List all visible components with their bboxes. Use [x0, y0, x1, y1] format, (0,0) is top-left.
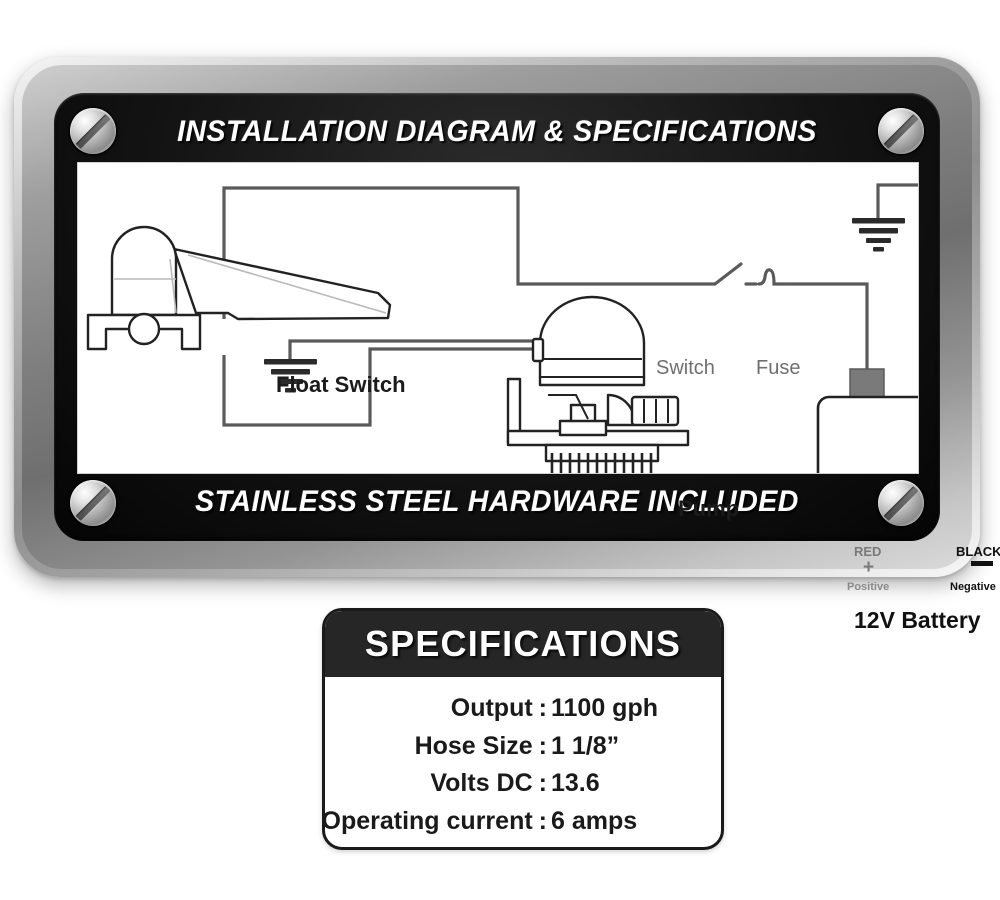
screw-top-left-icon — [70, 108, 116, 154]
float-switch-drawing — [88, 227, 390, 349]
specifications-card: SPECIFICATIONS Output : 1100 gph Hose Si… — [322, 608, 724, 850]
battery-body — [818, 397, 918, 473]
spec-separator: : — [539, 766, 547, 801]
fuse-label: Fuse — [756, 357, 800, 380]
battery-positive-terminal — [850, 369, 884, 399]
spec-value-hose-size: 1 1/8” — [551, 729, 699, 764]
metal-bezel-frame: INSTALLATION DIAGRAM & SPECIFICATIONS ST… — [14, 57, 980, 577]
black-plate: INSTALLATION DIAGRAM & SPECIFICATIONS ST… — [54, 93, 940, 541]
wiring-diagram-svg — [78, 163, 918, 473]
installation-diagram-page: INSTALLATION DIAGRAM & SPECIFICATIONS ST… — [0, 0, 1000, 900]
wire-battery-negative-to-ground — [878, 185, 918, 375]
pump-impeller-base — [560, 421, 606, 435]
battery-positive-word-label: Positive — [847, 581, 889, 593]
battery-minus-sign-icon — [971, 561, 993, 566]
specifications-list: Output : 1100 gph Hose Size : 1 1/8” Vol… — [325, 677, 721, 848]
float-switch-label: Float Switch — [276, 372, 406, 398]
wire-pump-to-ground — [290, 341, 538, 361]
float-switch-body — [112, 227, 176, 315]
spec-label-operating-current: Operating current — [322, 804, 533, 839]
spec-separator: : — [539, 729, 547, 764]
spec-label-hose-size: Hose Size — [415, 729, 533, 764]
battery-plus-sign-icon: + — [863, 557, 874, 579]
spec-row-volts-dc: Volts DC : 13.6 — [339, 766, 699, 801]
panel-footer-title: STAINLESS STEEL HARDWARE INCLUDED — [143, 472, 852, 532]
pump-cable-gland — [533, 339, 543, 361]
pump-housing — [540, 297, 644, 385]
screw-bottom-left-icon — [70, 480, 116, 526]
battery-title-label: 12V Battery — [854, 607, 981, 634]
ground-symbol-battery — [852, 218, 905, 252]
specifications-header: SPECIFICATIONS — [325, 611, 721, 677]
battery-negative-color-label: BLACK — [956, 544, 1000, 559]
pump-label: Pump — [678, 496, 739, 522]
switch-label: Switch — [656, 357, 715, 380]
spec-value-operating-current: 6 amps — [551, 804, 699, 839]
battery-negative-word-label: Negative — [950, 581, 996, 593]
spec-label-output: Output — [451, 691, 533, 726]
fuse-symbol — [759, 270, 785, 284]
screw-bottom-right-icon — [878, 480, 924, 526]
spec-separator: : — [539, 804, 547, 839]
spec-row-operating-current: Operating current : 6 amps — [339, 804, 699, 839]
spec-row-hose-size: Hose Size : 1 1/8” — [339, 729, 699, 764]
specifications-title: SPECIFICATIONS — [365, 623, 681, 665]
pump-outlet-elbow — [608, 395, 634, 425]
spec-value-output: 1100 gph — [551, 691, 699, 726]
screw-top-right-icon — [878, 108, 924, 154]
spec-separator: : — [539, 691, 547, 726]
wiring-diagram-panel: Float Switch Pump Switch Fuse RED + Posi… — [77, 162, 919, 474]
float-switch-mount-hole — [129, 314, 159, 344]
switch-symbol — [715, 264, 756, 284]
spec-label-volts-dc: Volts DC — [430, 766, 532, 801]
float-switch-arm — [174, 249, 390, 319]
panel-header-title: INSTALLATION DIAGRAM & SPECIFICATIONS — [143, 102, 852, 162]
spec-value-volts-dc: 13.6 — [551, 766, 699, 801]
spec-row-output: Output : 1100 gph — [339, 691, 699, 726]
